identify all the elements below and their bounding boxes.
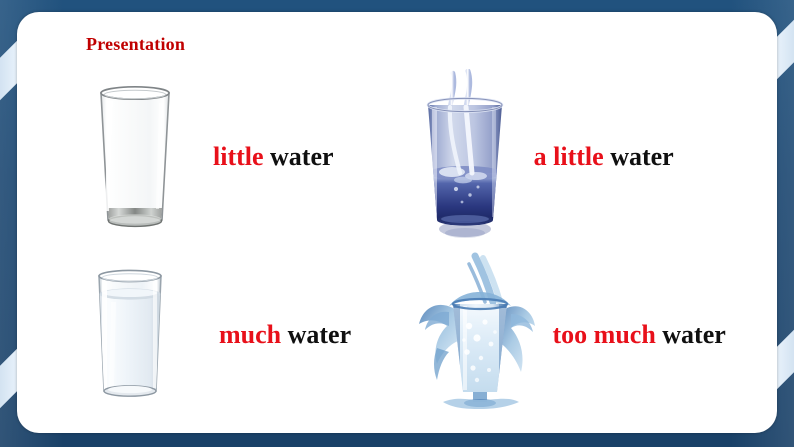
caption-little-water: little water [213,144,334,170]
slide-page: Presentation [17,12,777,433]
caption-a-little-water: a little water [534,144,674,170]
content-row-top: little water [17,74,777,239]
empty-glass-image [75,77,195,237]
item-much-water: much water [17,252,407,417]
caption-highlight: little [213,142,264,171]
caption-much-water: much water [219,322,351,348]
item-too-much-water: too much water [407,252,778,417]
glass-being-filled-image [410,69,520,244]
content-row-bottom: much water [17,252,777,417]
full-glass-image [75,262,185,407]
caption-rest: water [604,142,674,171]
caption-too-much-water: too much water [553,322,726,348]
caption-rest: water [281,320,351,349]
caption-rest: water [656,320,726,349]
caption-highlight: too much [553,320,656,349]
item-a-little-water: a little water [404,74,777,239]
caption-highlight: much [219,320,281,349]
page-title: Presentation [86,34,185,55]
item-little-water: little water [17,74,404,239]
caption-rest: water [264,142,334,171]
caption-highlight: a little [534,142,604,171]
presentation-slide: Presentation [0,0,794,447]
overflowing-glass-image [407,252,547,417]
